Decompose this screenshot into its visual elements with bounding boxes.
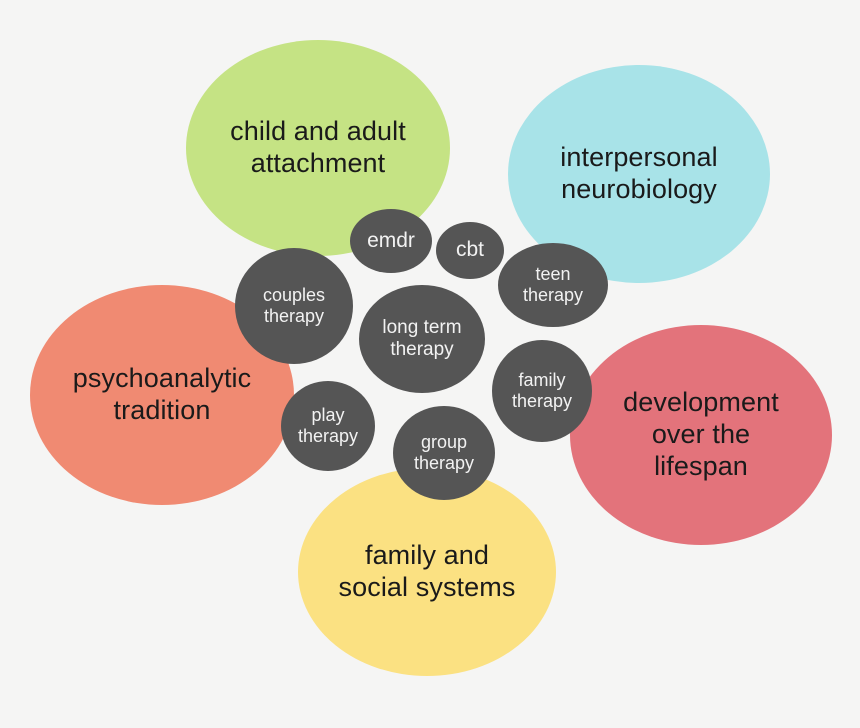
bubble-long-term-therapy: long term therapy <box>359 285 485 393</box>
bubble-development-over-the-lifespan: development over the lifespan <box>570 325 832 545</box>
bubble-label-group-therapy: group therapy <box>393 432 495 474</box>
bubble-emdr: emdr <box>350 209 432 273</box>
bubble-couples-therapy: couples therapy <box>235 248 353 364</box>
bubble-group-therapy: group therapy <box>393 406 495 500</box>
bubble-diagram-canvas: child and adult attachment interpersonal… <box>0 0 860 728</box>
bubble-label-development-over-the-lifespan: development over the lifespan <box>570 387 832 483</box>
bubble-label-play-therapy: play therapy <box>281 405 375 447</box>
bubble-label-family-and-social-systems: family and social systems <box>298 540 556 604</box>
bubble-family-and-social-systems: family and social systems <box>298 468 556 676</box>
bubble-label-teen-therapy: teen therapy <box>498 264 608 306</box>
bubble-label-cbt: cbt <box>436 238 504 263</box>
bubble-family-therapy: family therapy <box>492 340 592 442</box>
bubble-label-child-and-adult-attachment: child and adult attachment <box>186 116 450 180</box>
bubble-play-therapy: play therapy <box>281 381 375 471</box>
bubble-teen-therapy: teen therapy <box>498 243 608 327</box>
bubble-label-family-therapy: family therapy <box>492 370 592 412</box>
bubble-label-psychoanalytic-tradition: psychoanalytic tradition <box>30 363 294 427</box>
bubble-label-couples-therapy: couples therapy <box>235 285 353 327</box>
bubble-label-interpersonal-neurobiology: interpersonal neurobiology <box>508 142 770 206</box>
bubble-label-emdr: emdr <box>350 229 432 254</box>
bubble-label-long-term-therapy: long term therapy <box>359 317 485 362</box>
bubble-cbt: cbt <box>436 222 504 279</box>
